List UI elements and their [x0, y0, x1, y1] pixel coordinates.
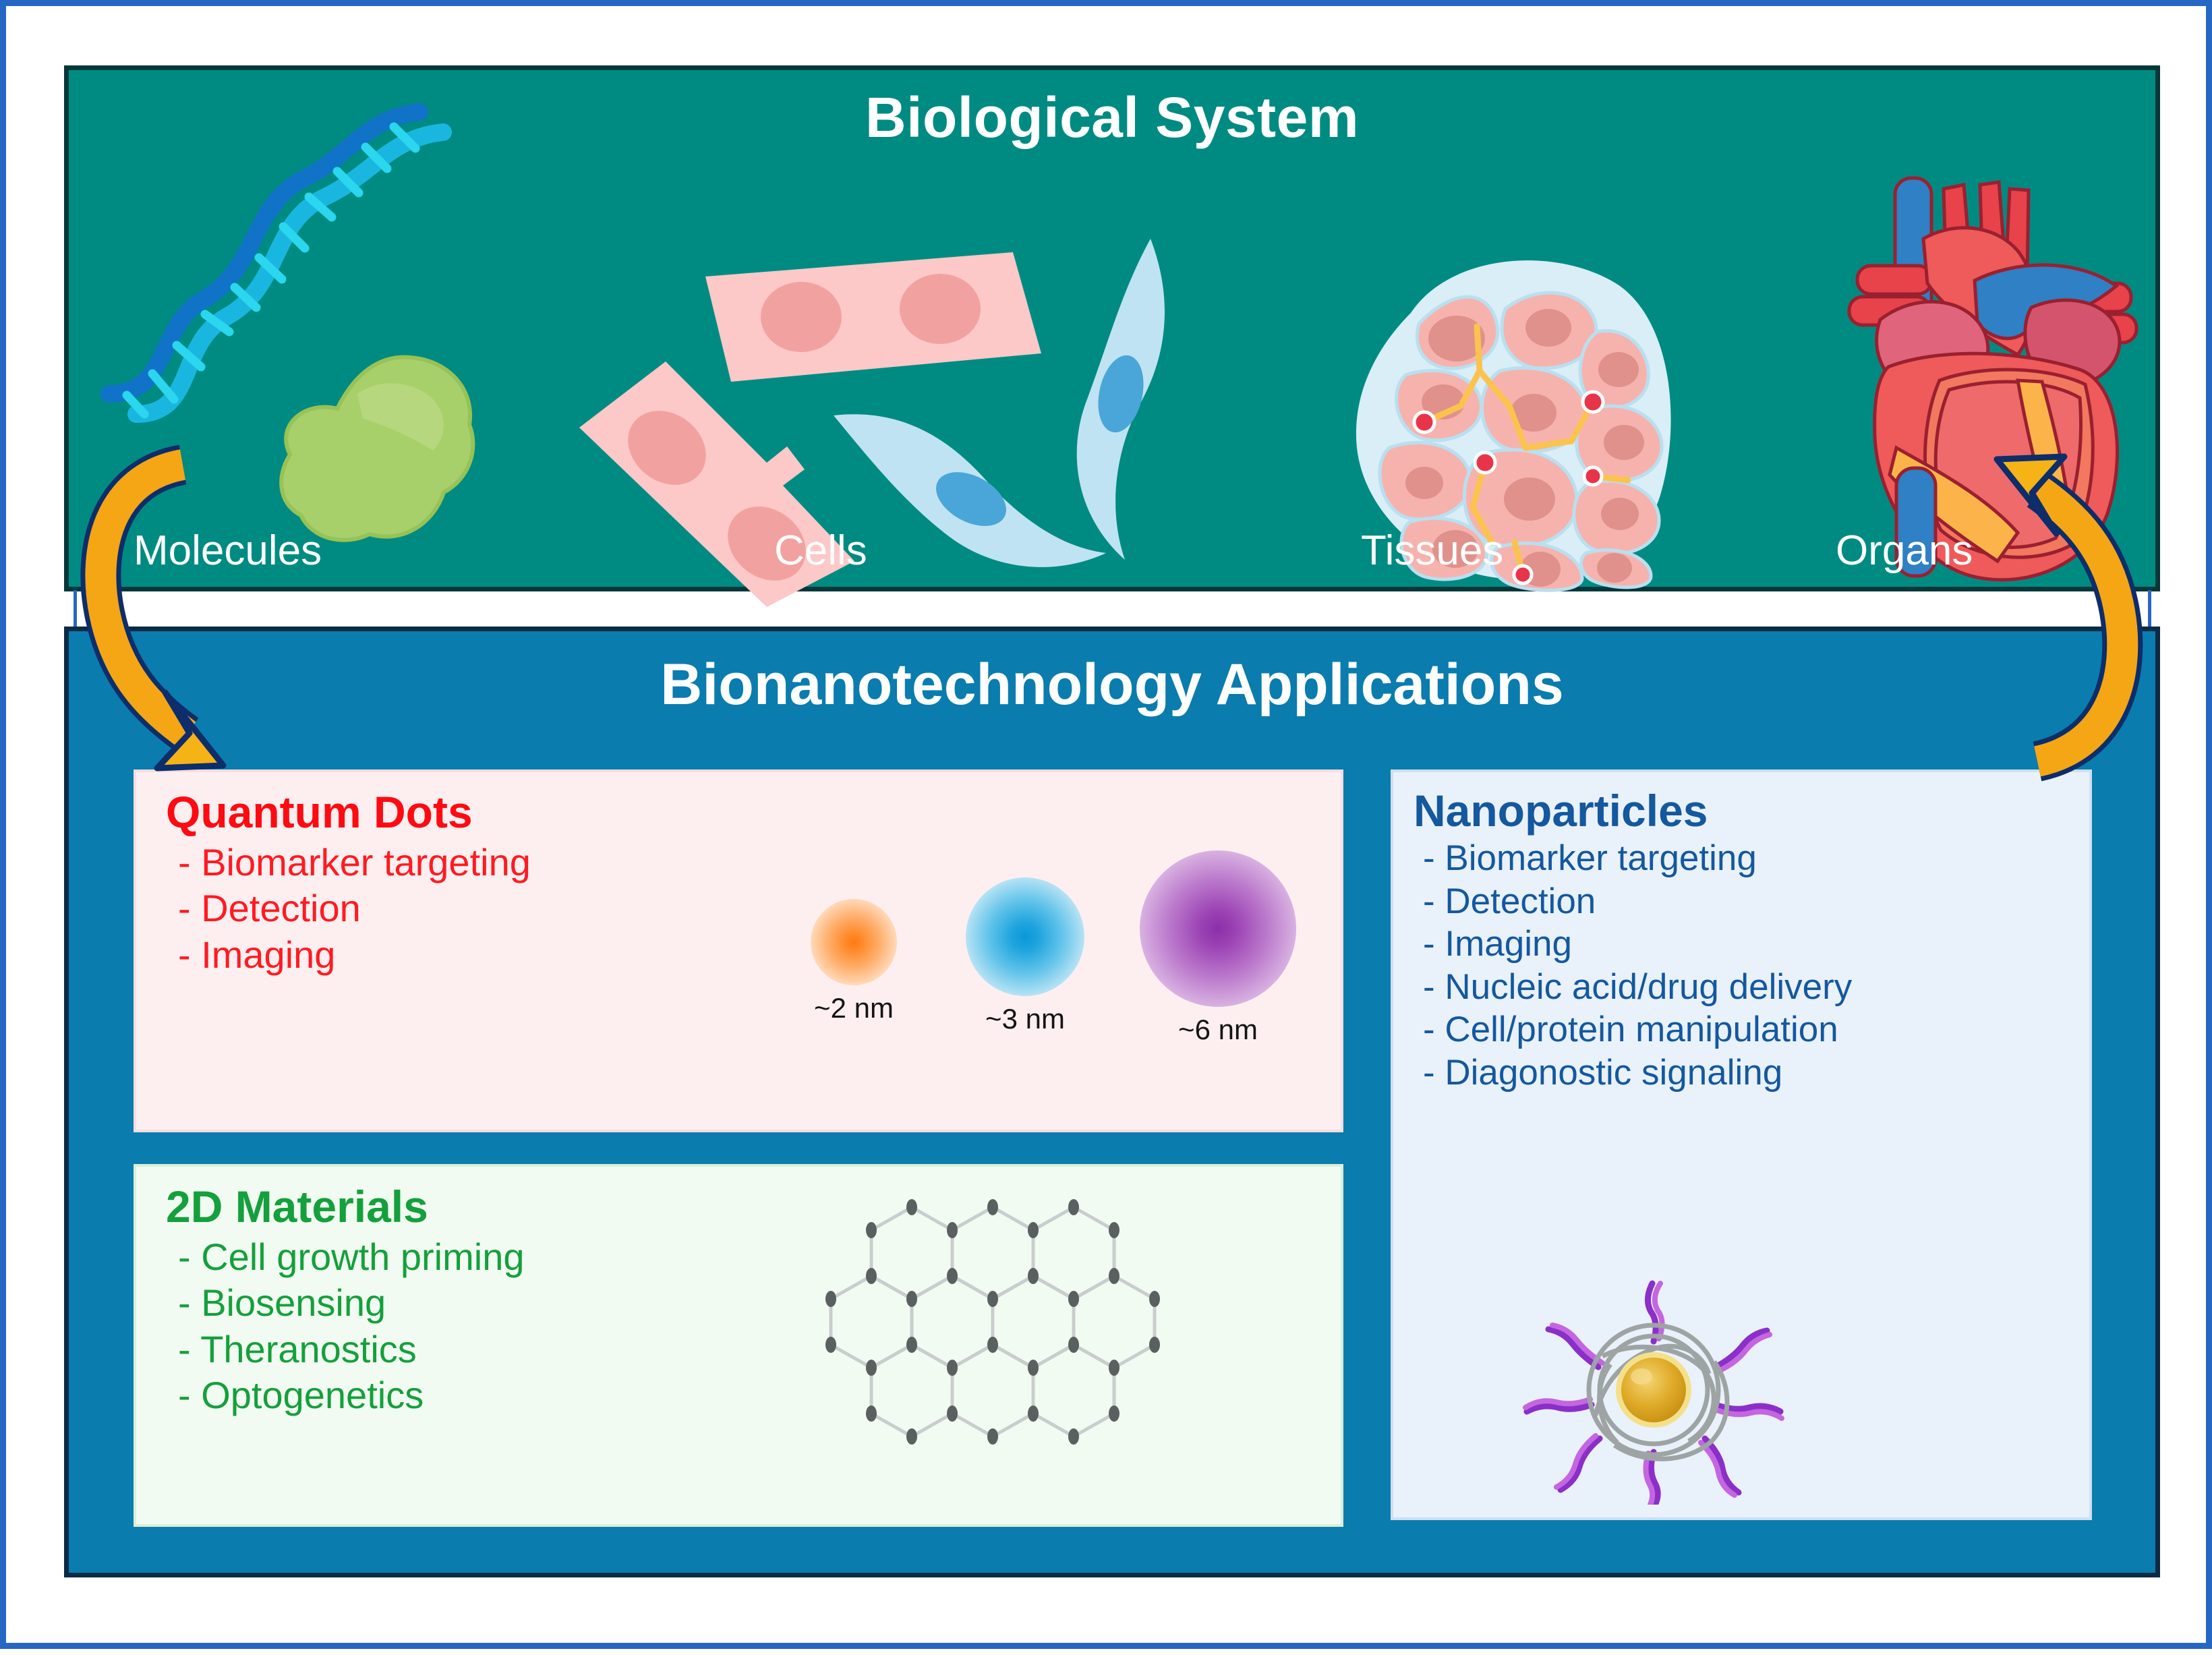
quantum-dots-card: Quantum Dots - Biomarker targeting - Det… — [134, 770, 1343, 1132]
figure-root: Biological System — [0, 0, 2212, 1649]
bionanotechnology-panel: Bionanotechnology Applications Quantum D… — [64, 627, 2160, 1577]
nanoparticles-bullets: - Biomarker targeting - Detection - Imag… — [1423, 837, 2089, 1095]
label-molecules: Molecules — [134, 527, 322, 575]
connector-right — [2148, 590, 2151, 629]
label-tissues: Tissues — [1361, 527, 1503, 575]
bionanotechnology-title: Bionanotechnology Applications — [69, 651, 2155, 718]
list-item: - Cell/protein manipulation — [1423, 1008, 2089, 1051]
quantum-dot-purple-icon — [1140, 850, 1296, 1007]
quantum-dot-size-series: ~2 nm ~3 nm ~6 nm — [811, 819, 1310, 1116]
functionalized-nanoparticle-icon — [1512, 1262, 1795, 1505]
biological-system-labels: Molecules Cells Tissues Organs — [69, 514, 2155, 575]
quantum-dot-3nm: ~3 nm — [966, 877, 1084, 1035]
quantum-dot-6nm-label: ~6 nm — [1140, 1014, 1296, 1046]
quantum-dot-6nm: ~6 nm — [1140, 850, 1296, 1046]
label-cells: Cells — [774, 527, 867, 575]
list-item: - Imaging — [1423, 923, 2089, 966]
quantum-dot-2nm: ~2 nm — [811, 899, 897, 1024]
quantum-dot-2nm-label: ~2 nm — [811, 992, 897, 1024]
two-d-materials-card: 2D Materials - Cell growth priming - Bio… — [134, 1164, 1343, 1527]
biological-system-panel: Biological System — [64, 65, 2160, 591]
quantum-dot-blue-icon — [966, 877, 1084, 996]
nanoparticles-card: Nanoparticles - Biomarker targeting - De… — [1391, 770, 2092, 1520]
nanoparticles-title: Nanoparticles — [1414, 788, 2089, 833]
connector-left — [74, 590, 77, 629]
label-organs: Organs — [1836, 527, 1973, 575]
list-item: - Diagonostic signaling — [1423, 1051, 2089, 1095]
list-item: - Biomarker targeting — [1423, 837, 2089, 880]
graphene-lattice-icon — [817, 1194, 1289, 1497]
quantum-dot-3nm-label: ~3 nm — [966, 1003, 1084, 1035]
list-item: - Detection — [1423, 880, 2089, 923]
list-item: - Nucleic acid/drug delivery — [1423, 966, 2089, 1009]
quantum-dot-orange-icon — [811, 899, 897, 985]
